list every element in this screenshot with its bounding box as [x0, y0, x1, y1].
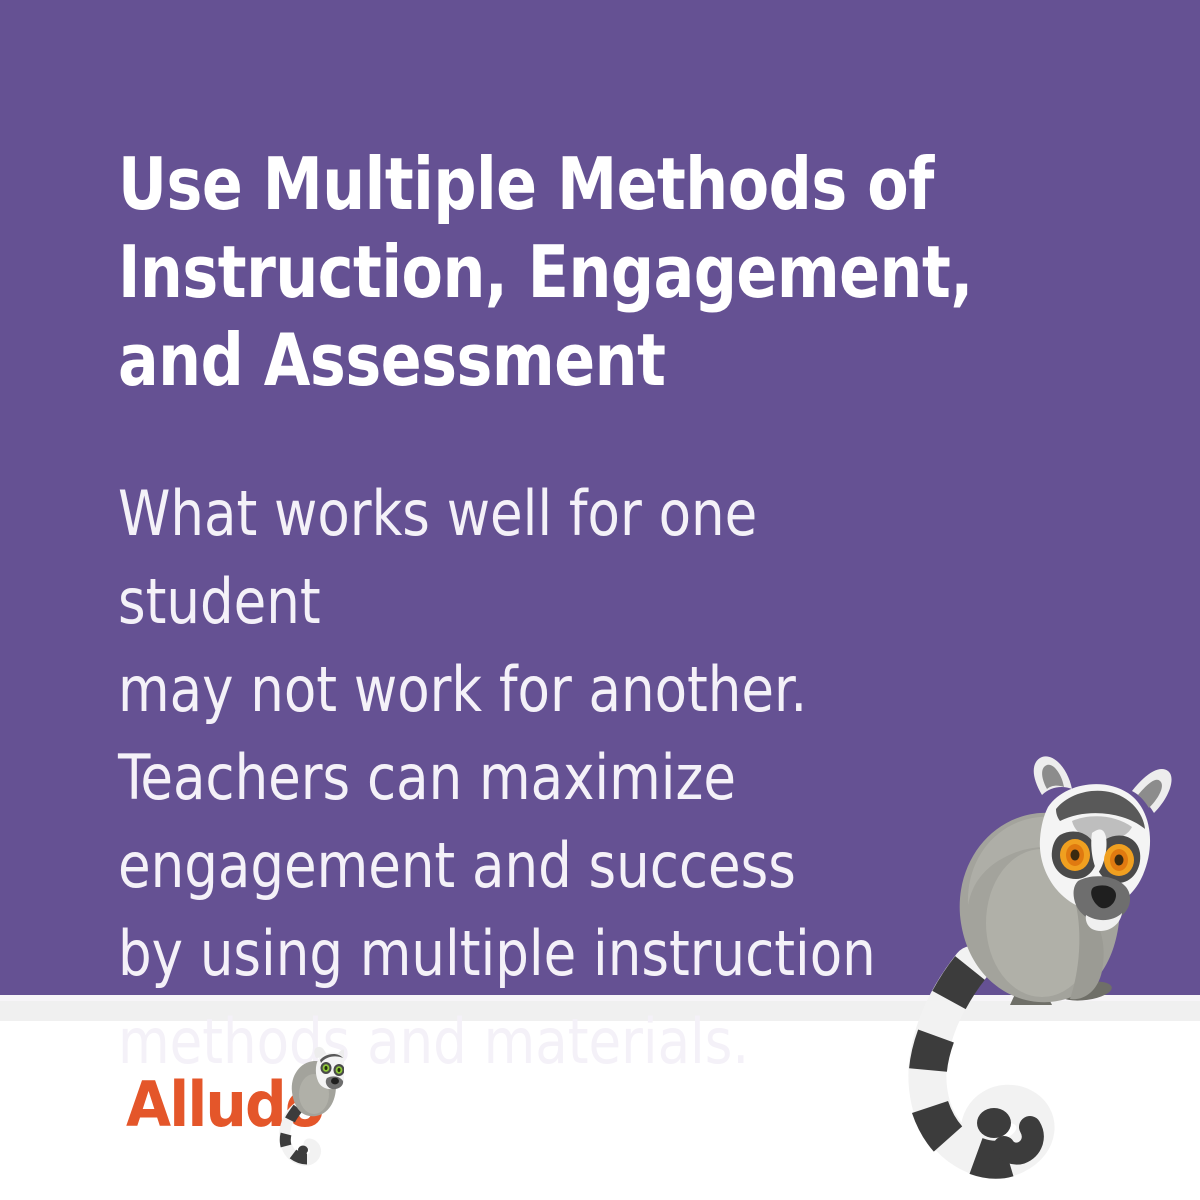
social-media-card: Use Multiple Methods of Instruction, Eng…: [0, 0, 1200, 1200]
brand-logo[interactable]: Alludo: [126, 1074, 356, 1154]
brand-wordmark: Alludo: [126, 1074, 323, 1136]
page-title: Use Multiple Methods of Instruction, Eng…: [118, 140, 974, 404]
body-paragraph: What works well for one student may not …: [118, 470, 954, 1086]
